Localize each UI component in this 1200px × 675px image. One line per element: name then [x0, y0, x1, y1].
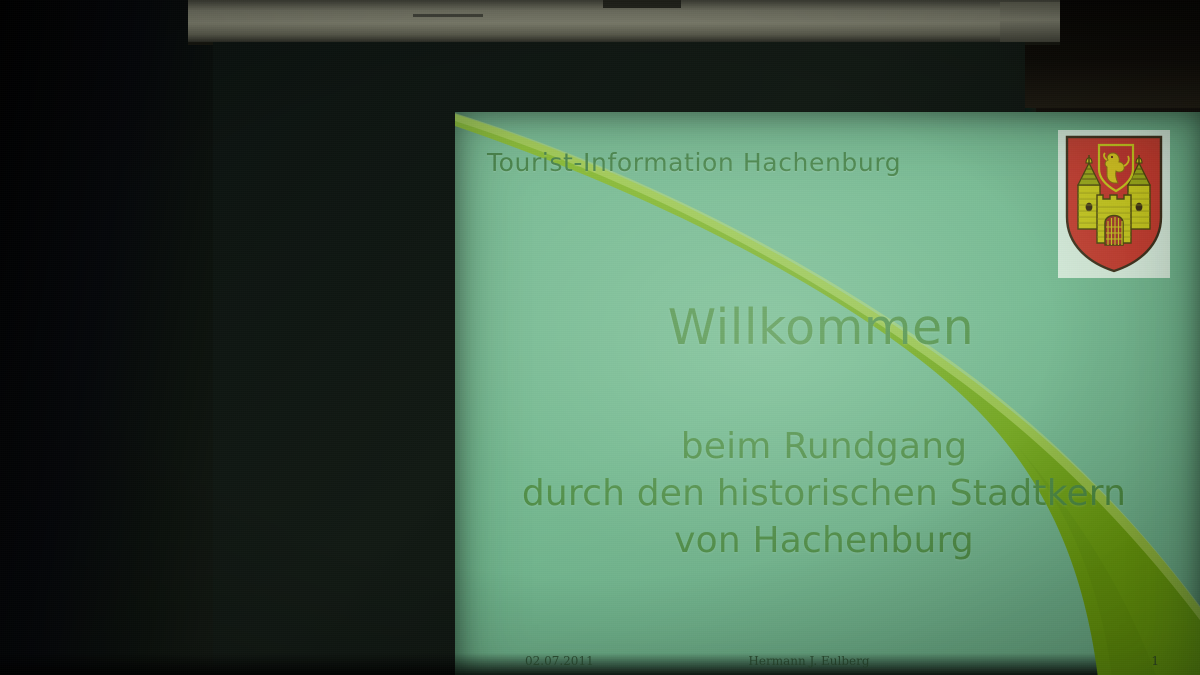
presentation-photo-scene: Tourist-Information Hachenburg — [0, 0, 1200, 675]
footer-author: Hermann J. Eulberg — [455, 654, 1200, 668]
slide-subline-block: beim Rundgang durch den historischen Sta… — [455, 424, 1200, 564]
slide-subline-1: beim Rundgang — [455, 424, 1193, 471]
presentation-slide: Tourist-Information Hachenburg — [455, 112, 1200, 675]
slide-subline-2: durch den historischen Stadtkern — [455, 471, 1193, 518]
projection-screen-housing — [188, 0, 1060, 45]
coat-of-arms-hachenburg — [1058, 130, 1170, 278]
slide-headline: Willkommen — [455, 302, 1187, 354]
slide-subline-3: von Hachenburg — [455, 518, 1193, 565]
projection-screen-frame: Tourist-Information Hachenburg — [213, 42, 1025, 675]
slide-footer: 02.07.2011 Hermann J. Eulberg 1 — [455, 654, 1200, 674]
slide-title: Tourist-Information Hachenburg — [487, 148, 901, 177]
housing-mount-bracket — [603, 0, 681, 8]
housing-seam-line — [413, 14, 483, 17]
footer-page-number: 1 — [1151, 654, 1159, 668]
slide-headline-block: Willkommen — [455, 302, 1200, 354]
housing-end-cap — [1000, 2, 1060, 42]
